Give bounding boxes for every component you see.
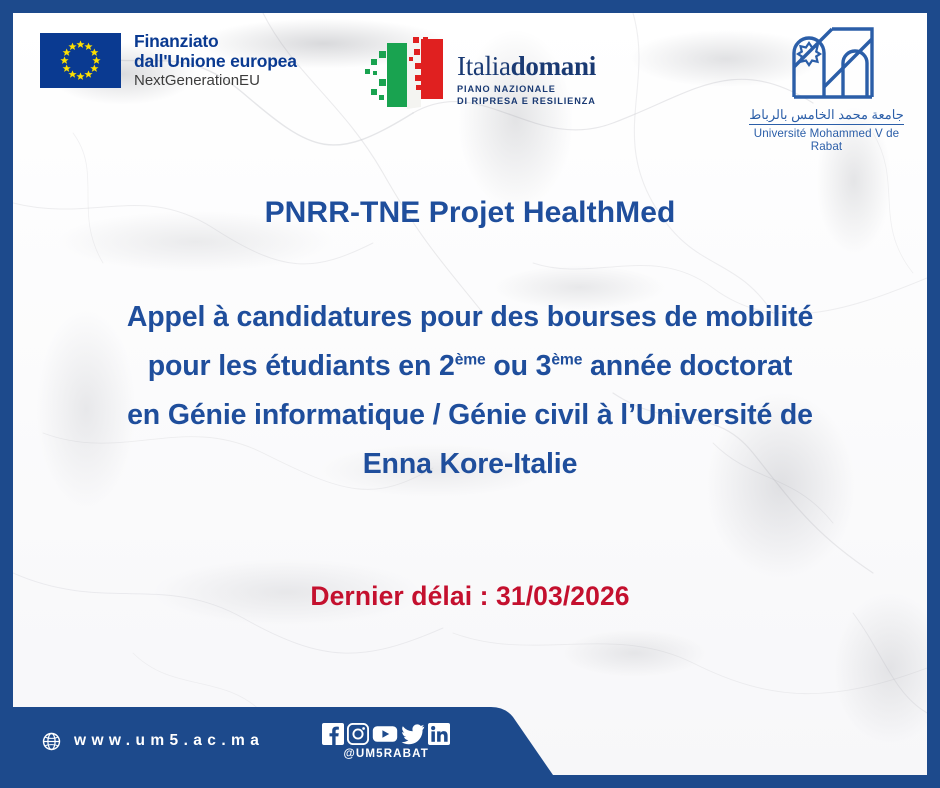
italia-word: Italia (457, 51, 511, 81)
eu-logo-line2: dall'Unione europea (134, 52, 297, 72)
announcement-line-1: Appel à candidatures pour des bourses de… (21, 293, 919, 342)
eu-logo-text: Finanziato dall'Unione europea NextGener… (134, 32, 297, 90)
italia-domani-logo: Italiadomani PIANO NAZIONALE DI RIPRESA … (365, 37, 596, 113)
header-logos: Finanziato dall'Unione europea NextGener… (13, 13, 927, 143)
eu-funding-logo: Finanziato dall'Unione europea NextGener… (40, 32, 297, 90)
university-logo: جامعة محمد الخامس بالرباط Université Moh… (744, 19, 909, 153)
university-name-french: Université Mohammed V de Rabat (744, 127, 909, 153)
eu-stars (40, 33, 121, 88)
social-icon-row (322, 723, 450, 745)
italia-domani-text: Italiadomani PIANO NAZIONALE DI RIPRESA … (457, 51, 596, 113)
social-handle: @UM5RABAT (322, 747, 450, 760)
eu-logo-line3: NextGenerationEU (134, 73, 297, 90)
poster-canvas: Finanziato dall'Unione europea NextGener… (13, 13, 927, 775)
website-url: www.um5.ac.ma (74, 732, 264, 750)
italian-flag-pixels (365, 37, 451, 113)
facebook-icon[interactable] (322, 723, 344, 745)
linkedin-icon[interactable] (428, 723, 450, 745)
line2-after: année doctorat (582, 350, 792, 382)
page-title: PNRR-TNE Projet HealthMed (13, 196, 927, 230)
eu-flag-icon (40, 33, 121, 88)
announcement-line-4: Enna Kore-Italie (21, 440, 919, 489)
italia-domani-subtitle-line1: PIANO NAZIONALE (457, 84, 596, 96)
website-link[interactable]: www.um5.ac.ma (42, 732, 264, 751)
youtube-icon[interactable] (372, 723, 398, 745)
italia-domani-wordmark: Italiadomani (457, 51, 596, 82)
announcement-body: Appel à candidatures pour des bourses de… (21, 293, 919, 489)
announcement-line-3: en Génie informatique / Génie civil à l’… (21, 391, 919, 440)
domani-word: domani (511, 51, 596, 81)
line2-before: pour les étudiants en 2 (148, 350, 455, 382)
deadline-text: Dernier délai : 31/03/2026 (13, 581, 927, 612)
globe-icon (42, 732, 61, 751)
footer: www.um5.ac.ma (13, 707, 927, 775)
announcement-line-2: pour les étudiants en 2ème ou 3ème année… (21, 342, 919, 391)
italia-domani-subtitle-line2: DI RIPRESA E RESILIENZA (457, 96, 596, 108)
line2-middle: ou 3 (486, 350, 552, 382)
italia-domani-subtitle: PIANO NAZIONALE DI RIPRESA E RESILIENZA (457, 84, 596, 107)
poster: Finanziato dall'Unione europea NextGener… (0, 0, 940, 788)
social-links: @UM5RABAT (322, 723, 450, 760)
instagram-icon[interactable] (347, 723, 369, 745)
line2-sup-1: ème (455, 352, 486, 369)
italian-flag-pixel-icon (365, 37, 451, 113)
university-name-arabic: جامعة محمد الخامس بالرباط (749, 107, 904, 125)
line2-sup-2: ème (551, 352, 582, 369)
twitter-icon[interactable] (401, 723, 425, 745)
eu-logo-line1: Finanziato (134, 32, 297, 52)
footer-content: www.um5.ac.ma (13, 707, 473, 775)
um5-monogram-icon (771, 19, 883, 101)
